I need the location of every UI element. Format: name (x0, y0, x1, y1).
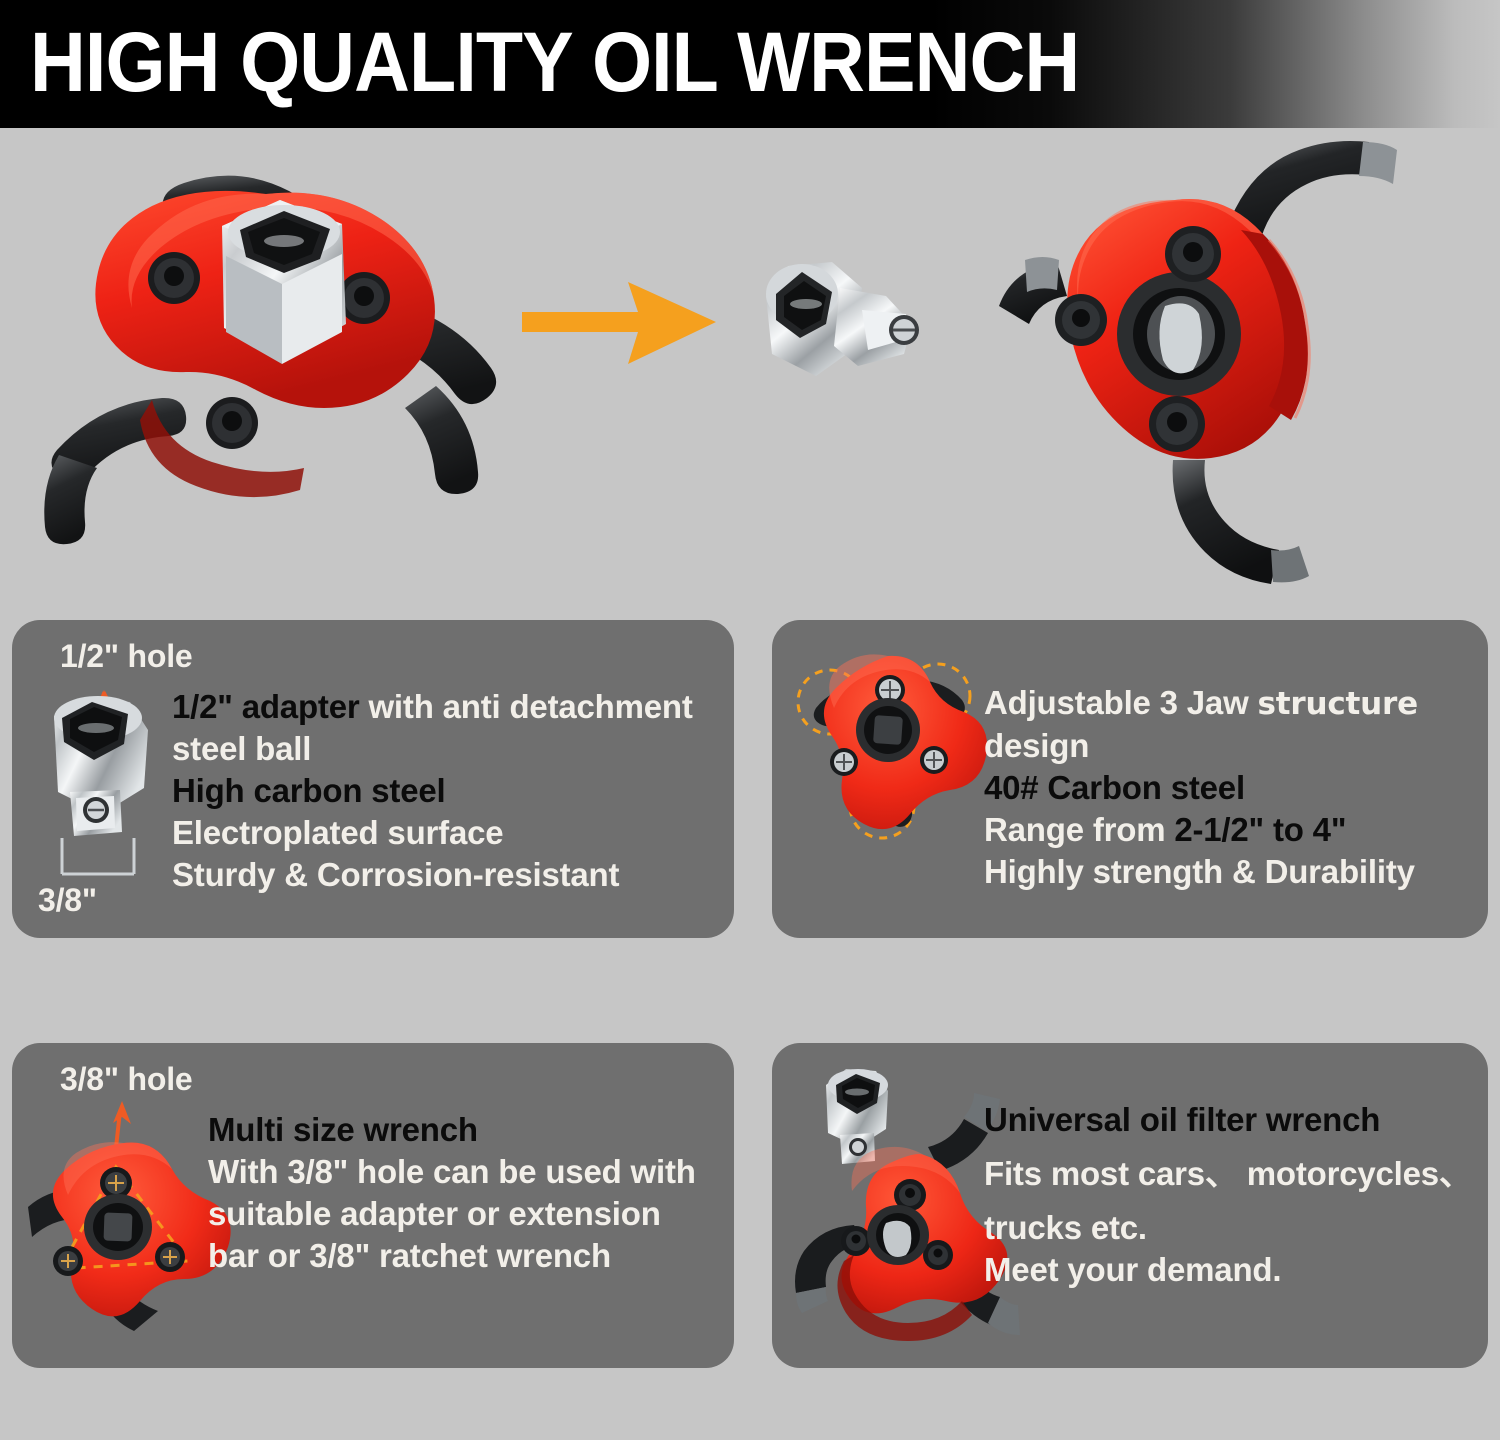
feature-line: 40# Carbon steel (984, 767, 1418, 809)
feature-segment: Range from (984, 811, 1174, 848)
feature-line: design (984, 725, 1418, 767)
feature-card-universal: Universal oil filter wrench Fits most ca… (772, 1043, 1488, 1368)
feature-line: With 3/8" hole can be used with (208, 1151, 696, 1193)
feature-card-multi-size: 3/8" hole (12, 1043, 734, 1368)
feature-line: Electroplated surface (172, 812, 693, 854)
feature-segment: steel ball (172, 730, 311, 767)
page-title: HIGH QUALITY OIL WRENCH (30, 14, 1079, 110)
feature-card-three-jaw: Adjustable 3 Jaw structure design 40# Ca… (772, 620, 1488, 938)
header-banner: HIGH QUALITY OIL WRENCH (0, 0, 1500, 128)
feature-line: Multi size wrench (208, 1109, 696, 1151)
feature-segment: High carbon steel (172, 772, 446, 809)
card-text-multi-size: Multi size wrench With 3/8" hole can be … (208, 1109, 696, 1277)
feature-segment: with anti detachment (368, 688, 692, 725)
feature-segment: bar or 3/8" ratchet wrench (208, 1237, 611, 1274)
hero-adapter-image (752, 258, 942, 388)
feature-line: Fits most cars、 motorcycles、 (984, 1141, 1472, 1207)
feature-segment: trucks etc. (984, 1209, 1147, 1246)
feature-line: bar or 3/8" ratchet wrench (208, 1235, 696, 1277)
feature-segment: Sturdy & Corrosion-resistant (172, 856, 619, 893)
card-text-universal: Universal oil filter wrench Fits most ca… (984, 1099, 1472, 1291)
orange-right-arrow-icon (520, 278, 720, 368)
feature-segment: Adjustable 3 Jaw (984, 684, 1258, 721)
feature-segment: 1/2" adapter (172, 688, 368, 725)
feature-line: Universal oil filter wrench (984, 1099, 1472, 1141)
feature-segment: Universal oil filter wrench (984, 1101, 1380, 1138)
product-infographic: HIGH QUALITY OIL WRENCH (0, 0, 1500, 1440)
feature-segment: design (984, 727, 1089, 764)
callout-half-inch-hole: 1/2" hole (60, 638, 193, 675)
feature-segment: Multi size wrench (208, 1111, 478, 1148)
feature-card-adapter: 1/2" hole (12, 620, 734, 938)
hero-right-product-image (965, 138, 1405, 578)
callout-three-eighths: 3/8" (38, 882, 97, 919)
hero-left-product-image (34, 148, 504, 568)
hero-section (0, 128, 1500, 608)
feature-line: steel ball (172, 728, 693, 770)
feature-segment: Highly strength & Durability (984, 853, 1415, 890)
feature-line: Sturdy & Corrosion-resistant (172, 854, 693, 896)
feature-line: Highly strength & Durability (984, 851, 1418, 893)
feature-line: Range from 2-1/2" to 4" (984, 809, 1418, 851)
feature-segment: With 3/8" hole can be used with (208, 1153, 696, 1190)
feature-segment: 2-1/2" to 4" (1174, 811, 1346, 848)
feature-line: trucks etc. (984, 1207, 1472, 1249)
feature-segment: 40# Carbon steel (984, 769, 1245, 806)
feature-line: Adjustable 3 Jaw structure (984, 682, 1418, 725)
card-text-adapter: 1/2" adapter with anti detachment steel … (172, 686, 693, 896)
feature-line: High carbon steel (172, 770, 693, 812)
feature-segment: Electroplated surface (172, 814, 503, 851)
feature-segment: suitable adapter or extension (208, 1195, 661, 1232)
feature-line: Meet your demand. (984, 1249, 1472, 1291)
three-jaw-top-view-diagram (782, 634, 1002, 894)
card-text-three-jaw: Adjustable 3 Jaw structure design 40# Ca… (984, 682, 1418, 893)
feature-segment-emphasis: structure (1258, 686, 1418, 722)
feature-segment: Fits most cars、 motorcycles、 (984, 1155, 1472, 1192)
feature-line: suitable adapter or extension (208, 1193, 696, 1235)
feature-segment: Meet your demand. (984, 1251, 1281, 1288)
adapter-diagram (32, 682, 182, 912)
feature-line: 1/2" adapter with anti detachment (172, 686, 693, 728)
